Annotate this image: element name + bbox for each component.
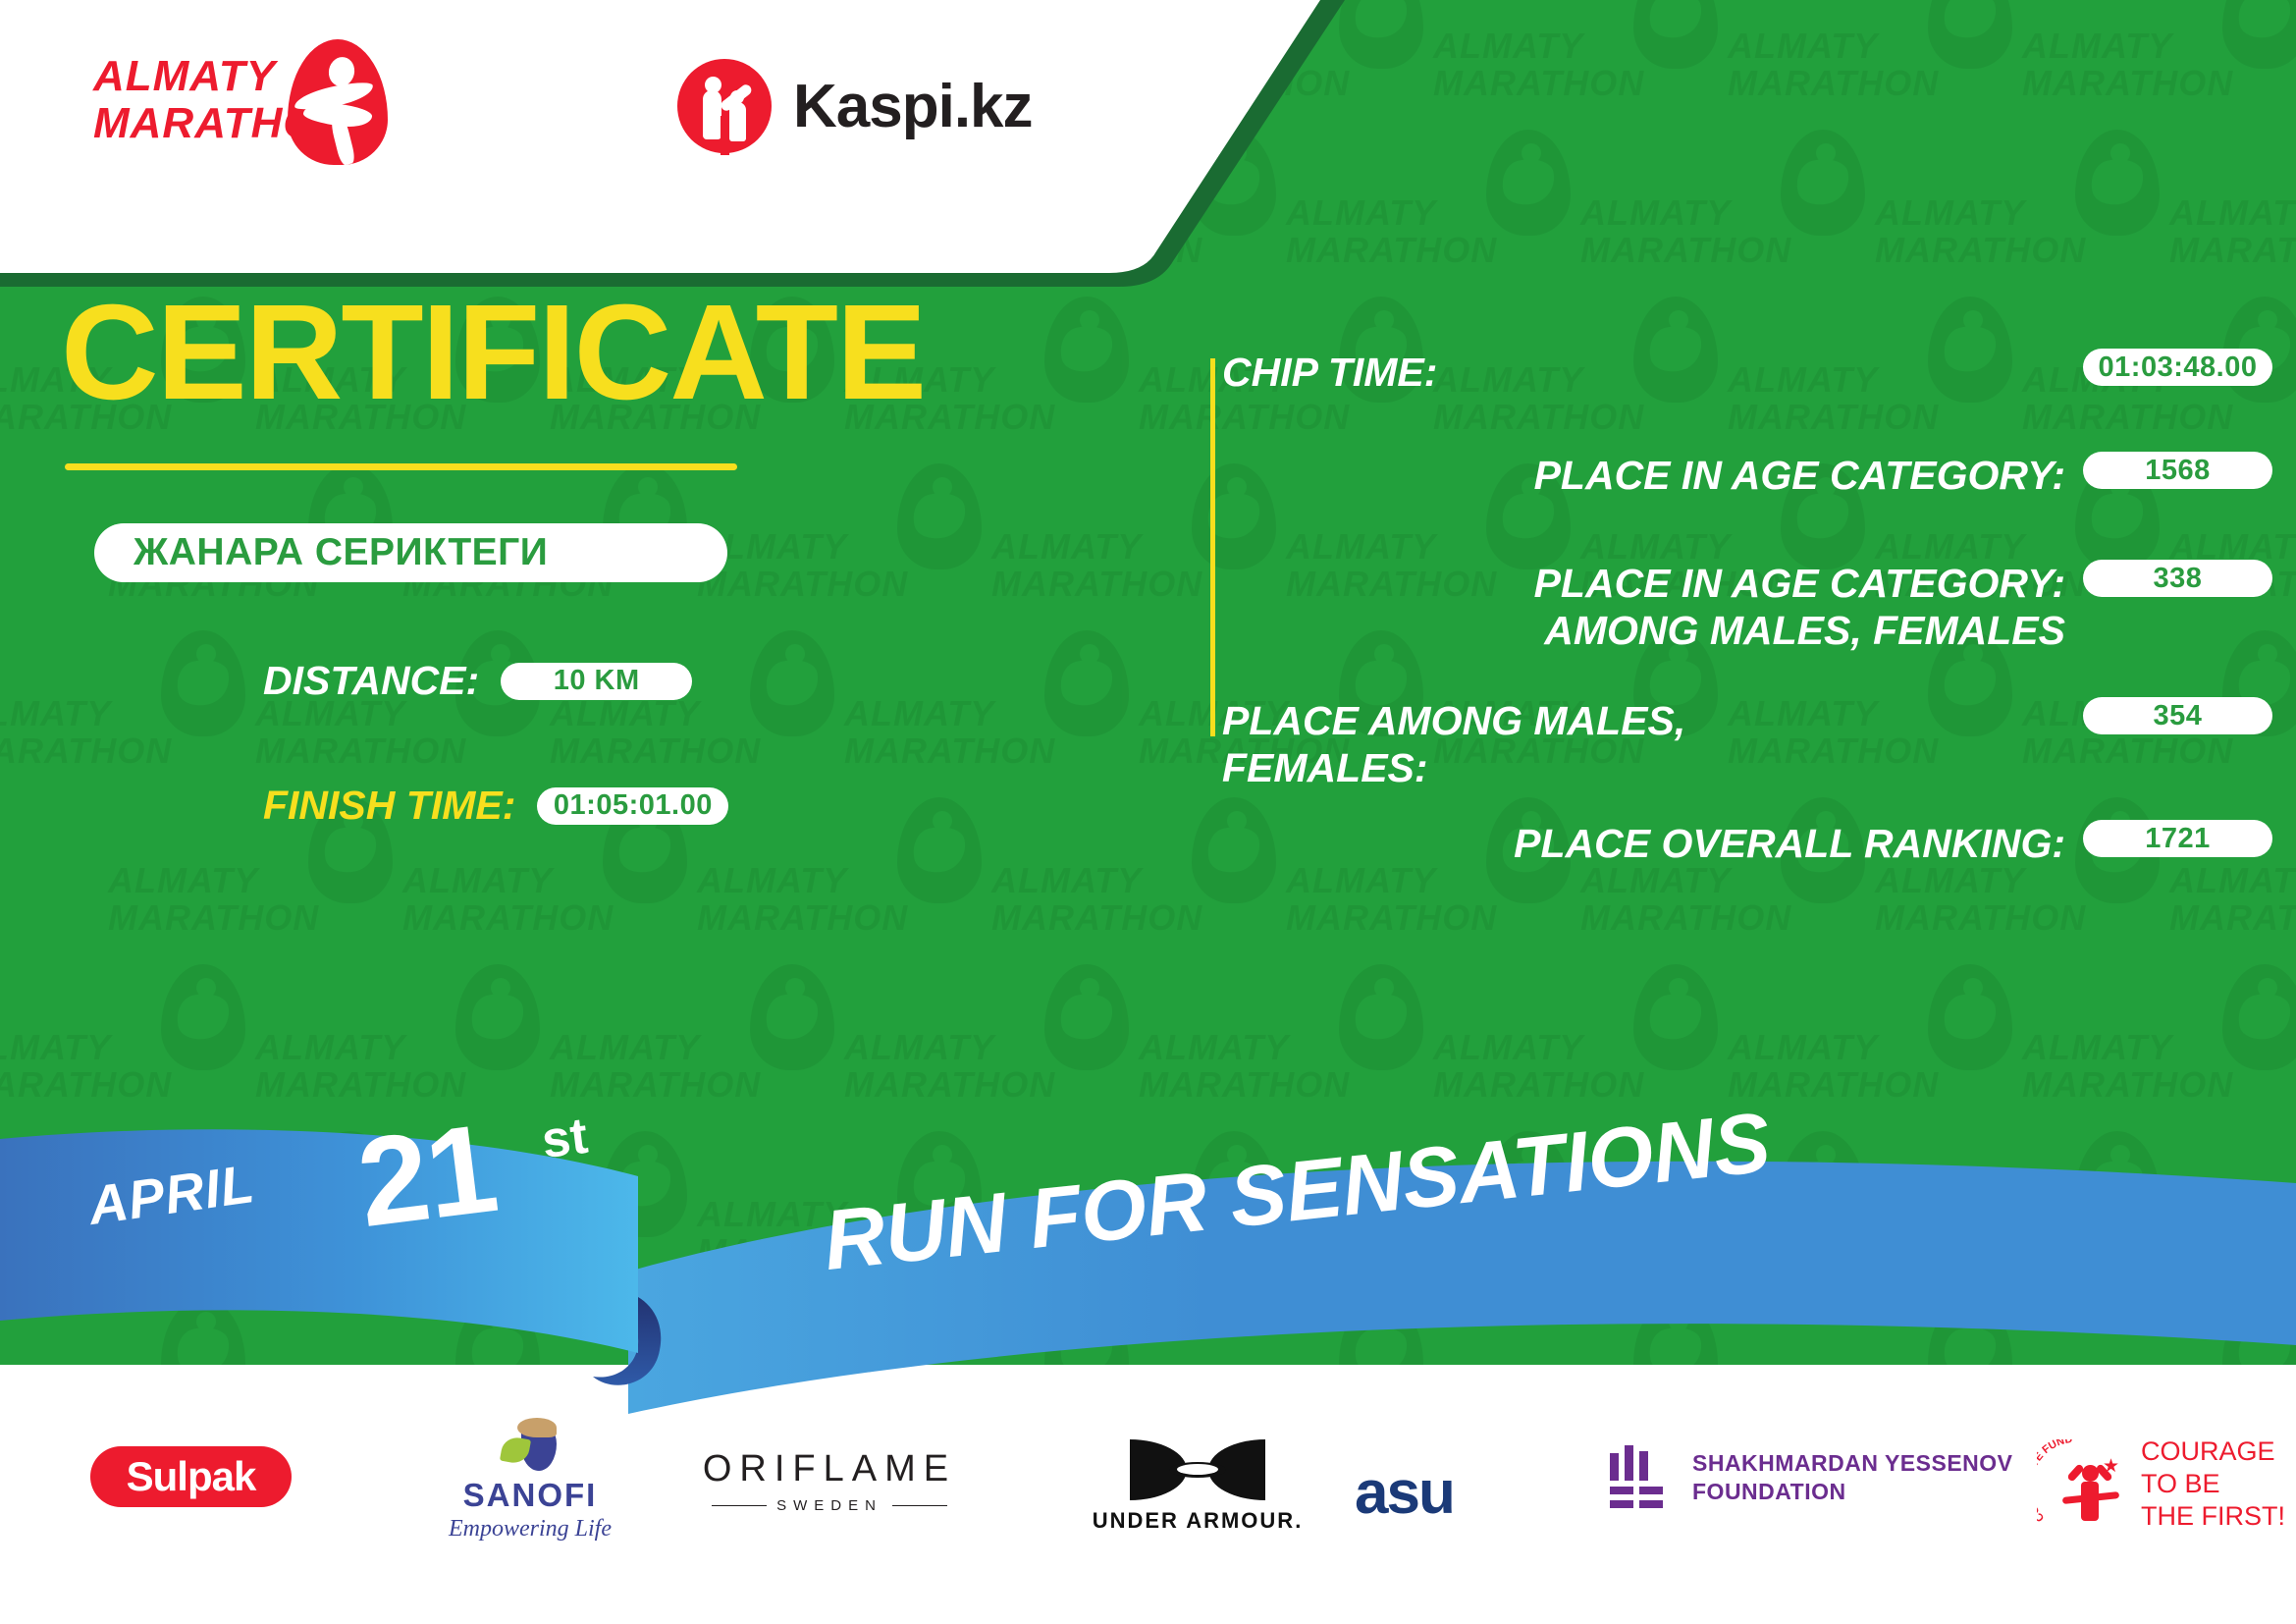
- place-age-gender-label: PLACE IN AGE CATEGORY: AMONG MALES, FEMA…: [1222, 560, 2083, 654]
- sanofi-bird-icon: [496, 1418, 564, 1473]
- watermark-line2: MARATHON: [2169, 897, 2296, 939]
- yessenov-bars-icon: [1610, 1445, 1671, 1510]
- watermark-runner-icon: [1044, 964, 1129, 1070]
- watermark-line1: ALMATY: [1728, 1027, 1878, 1068]
- watermark-line2: MARATHON: [1433, 397, 1644, 438]
- place-gender-label-line1: PLACE AMONG MALES,: [1222, 697, 2083, 744]
- yessenov-logo-text: SHAKHMARDAN YESSENOV FOUNDATION: [1692, 1449, 2013, 1506]
- watermark-line1: ALMATY: [991, 860, 1142, 901]
- yessenov-logo-line2: FOUNDATION: [1692, 1478, 2013, 1506]
- sanofi-logo-text: SANOFI: [422, 1477, 638, 1514]
- watermark-line2: MARATHON: [1728, 63, 1939, 104]
- title-underline: [65, 463, 737, 470]
- watermark-line1: ALMATY: [0, 693, 111, 734]
- courage-line1: COURAGE: [2141, 1435, 2285, 1468]
- watermark-tile: ALMATYMARATHON: [1433, 0, 1728, 128]
- watermark-runner-icon: [1633, 964, 1718, 1070]
- watermark-tile: ALMATYMARATHON: [2169, 128, 2296, 295]
- participant-name: ЖАНАРА СЕРИКТЕГИ: [94, 531, 548, 574]
- sponsor-sanofi: SANOFI Empowering Life: [422, 1418, 638, 1543]
- watermark-tile: ALMATYMARATHON: [697, 795, 991, 962]
- place-age-gender-label-line2: AMONG MALES, FEMALES: [1222, 607, 2065, 654]
- finish-time-value: 01:05:01.00: [537, 787, 728, 825]
- watermark-runner-icon: [750, 964, 834, 1070]
- under-armour-logo-text: UNDER ARMOUR.: [1085, 1508, 1310, 1534]
- distance-row: DISTANCE: 10 KM: [263, 658, 692, 704]
- chip-time-label: CHIP TIME:: [1222, 349, 2083, 396]
- watermark-runner-icon: [1044, 297, 1129, 403]
- watermark-tile: ALMATYMARATHON: [2022, 0, 2296, 128]
- watermark-runner-icon: [1044, 630, 1129, 736]
- oriflame-rule-left: [712, 1505, 767, 1506]
- oriflame-logo-text: ORIFLAME: [687, 1448, 972, 1490]
- watermark-line1: ALMATY: [550, 1027, 700, 1068]
- result-row-overall: PLACE OVERALL RANKING: 1721: [1222, 820, 2272, 867]
- oriflame-rule-right: [892, 1505, 947, 1506]
- watermark-runner-icon: [2075, 130, 2160, 236]
- overall-rank-value: 1721: [2083, 820, 2272, 857]
- sponsor-asu: asu: [1355, 1458, 1454, 1528]
- watermark-runner-icon: [1781, 130, 1865, 236]
- watermark-line1: ALMATY: [0, 1027, 111, 1068]
- watermark-line2: MARATHON: [402, 897, 614, 939]
- watermark-tile: ALMATYMARATHON: [1875, 128, 2169, 295]
- watermark-runner-icon: [161, 630, 245, 736]
- watermark-line2: MARATHON: [1286, 897, 1497, 939]
- watermark-line1: ALMATY: [1875, 192, 2025, 234]
- watermark-runner-icon: [161, 964, 245, 1070]
- sanofi-tagline: Empowering Life: [422, 1516, 638, 1543]
- watermark-line1: ALMATY: [255, 1027, 405, 1068]
- place-age-gender-value: 338: [2083, 560, 2272, 597]
- watermark-line2: MARATHON: [1580, 230, 1791, 271]
- watermark-line2: MARATHON: [1139, 397, 1350, 438]
- watermark-tile: ALMATYMARATHON: [844, 628, 1139, 795]
- page-title: CERTIFICATE: [61, 285, 925, 420]
- watermark-line1: ALMATY: [1139, 1027, 1289, 1068]
- results-divider: [1210, 358, 1215, 736]
- watermark-line1: ALMATY: [991, 526, 1142, 568]
- sponsor-yessenov-foundation: SHAKHMARDAN YESSENOV FOUNDATION: [1610, 1445, 2013, 1510]
- almaty-marathon-logo: ALMATY MARATHON: [93, 47, 398, 155]
- watermark-line2: MARATHON: [1580, 897, 1791, 939]
- watermark-tile: ALMATYMARATHON: [697, 461, 991, 628]
- watermark-line2: MARATHON: [1875, 230, 2086, 271]
- watermark-line2: MARATHON: [2022, 397, 2233, 438]
- watermark-runner-icon: [2222, 0, 2296, 69]
- sulpak-logo-text: Sulpak: [90, 1446, 292, 1507]
- watermark-line2: MARATHON: [697, 564, 908, 605]
- sponsor-sulpak: Sulpak: [90, 1446, 292, 1507]
- watermark-line1: ALMATY: [108, 860, 258, 901]
- watermark-line2: MARATHON: [2169, 230, 2296, 271]
- watermark-line2: MARATHON: [550, 731, 761, 772]
- watermark-line1: ALMATY: [1728, 26, 1878, 67]
- watermark-line2: MARATHON: [255, 731, 466, 772]
- place-age-gender-label-line1: PLACE IN AGE CATEGORY:: [1222, 560, 2065, 607]
- watermark-line1: ALMATY: [844, 693, 994, 734]
- sponsor-oriflame: ORIFLAME SWEDEN: [687, 1448, 972, 1514]
- watermark-runner-icon: [455, 964, 540, 1070]
- watermark-line2: MARATHON: [991, 564, 1202, 605]
- sponsor-strip: Sulpak SANOFI Empowering Life ORIFLAME S…: [0, 1414, 2296, 1600]
- sponsor-under-armour: UNDER ARMOUR.: [1085, 1439, 1310, 1534]
- place-gender-value: 354: [2083, 697, 2272, 734]
- sponsor-courage-fund: CORPORATE FUND ★ COURAGE TO BE THE FIRST…: [2037, 1435, 2285, 1533]
- watermark-runner-icon: [2222, 964, 2296, 1070]
- watermark-line1: ALMATY: [2022, 26, 2172, 67]
- distance-label: DISTANCE:: [263, 658, 479, 704]
- watermark-line2: MARATHON: [108, 897, 319, 939]
- watermark-line2: MARATHON: [697, 897, 908, 939]
- chip-time-value: 01:03:48.00: [2083, 349, 2272, 386]
- watermark-tile: ALMATYMARATHON: [1728, 0, 2022, 128]
- distance-value: 10 KM: [501, 663, 692, 700]
- asu-logo-text: asu: [1355, 1458, 1454, 1528]
- participant-name-field: ЖАНАРА СЕРИКТЕГИ: [94, 523, 727, 582]
- kaspi-logo-text: Kaspi.kz: [793, 72, 1033, 141]
- watermark-line2: MARATHON: [2022, 63, 2233, 104]
- result-row-place-age: PLACE IN AGE CATEGORY: 1568: [1222, 452, 2272, 499]
- watermark-tile: ALMATYMARATHON: [255, 628, 550, 795]
- watermark-line1: ALMATY: [2169, 192, 2296, 234]
- courage-figure-icon: CORPORATE FUND ★: [2037, 1439, 2127, 1530]
- watermark-line2: MARATHON: [844, 731, 1055, 772]
- kaspi-logo: Kaspi.kz: [677, 57, 1033, 155]
- watermark-runner-icon: [897, 463, 982, 569]
- courage-line2: TO BE: [2141, 1468, 2285, 1500]
- place-age-label: PLACE IN AGE CATEGORY:: [1222, 452, 2083, 499]
- yessenov-logo-line1: SHAKHMARDAN YESSENOV: [1692, 1449, 2013, 1478]
- event-ribbon: APRIL 21 st RUN FOR SENSATIONS: [0, 1100, 2296, 1424]
- result-row-chip-time: CHIP TIME: 01:03:48.00: [1222, 349, 2272, 396]
- courage-logo-text: COURAGE TO BE THE FIRST!: [2141, 1435, 2285, 1533]
- watermark-line2: MARATHON: [991, 897, 1202, 939]
- certificate-page: ALMATYMARATHONALMATYMARATHONALMATYMARATH…: [0, 0, 2296, 1624]
- watermark-runner-icon: [750, 630, 834, 736]
- courage-runner-icon: ★: [2066, 1459, 2115, 1522]
- watermark-runner-icon: [1633, 0, 1718, 69]
- watermark-line2: MARATHON: [0, 731, 172, 772]
- ribbon-ordinal: st: [539, 1107, 591, 1170]
- watermark-line1: ALMATY: [1580, 192, 1731, 234]
- overall-rank-label: PLACE OVERALL RANKING:: [1222, 820, 2083, 867]
- watermark-runner-icon: [1486, 130, 1571, 236]
- ribbon-day: 21: [350, 1096, 503, 1256]
- watermark-runner-icon: [1928, 0, 2012, 69]
- oriflame-sub: SWEDEN: [687, 1497, 972, 1514]
- watermark-line1: ALMATY: [1433, 1027, 1583, 1068]
- watermark-line2: MARATHON: [1728, 397, 1939, 438]
- oriflame-sub-text: SWEDEN: [776, 1497, 882, 1514]
- result-row-place-gender: PLACE AMONG MALES, FEMALES: 354: [1222, 697, 2272, 791]
- kaspi-people-icon: [677, 59, 772, 153]
- watermark-tile: ALMATYMARATHON: [1580, 128, 1875, 295]
- watermark-line1: ALMATY: [844, 1027, 994, 1068]
- watermark-line1: ALMATY: [2022, 1027, 2172, 1068]
- watermark-line2: MARATHON: [1433, 63, 1644, 104]
- watermark-tile: ALMATYMARATHON: [550, 628, 844, 795]
- finish-time-label: FINISH TIME:: [263, 783, 515, 829]
- place-gender-label: PLACE AMONG MALES, FEMALES:: [1222, 697, 2083, 791]
- watermark-line2: MARATHON: [1875, 897, 2086, 939]
- result-row-place-age-gender: PLACE IN AGE CATEGORY: AMONG MALES, FEMA…: [1222, 560, 2272, 654]
- watermark-line1: ALMATY: [697, 860, 847, 901]
- watermark-line1: ALMATY: [402, 860, 553, 901]
- place-age-value: 1568: [2083, 452, 2272, 489]
- finish-time-row: FINISH TIME: 01:05:01.00: [263, 783, 728, 829]
- place-gender-label-line2: FEMALES:: [1222, 744, 2083, 791]
- watermark-tile: ALMATYMARATHON: [0, 628, 255, 795]
- watermark-line1: ALMATY: [1433, 26, 1583, 67]
- watermark-runner-icon: [1928, 964, 2012, 1070]
- watermark-runner-icon: [897, 797, 982, 903]
- courage-line3: THE FIRST!: [2141, 1500, 2285, 1533]
- watermark-runner-icon: [1339, 964, 1423, 1070]
- under-armour-icon: [1130, 1439, 1265, 1500]
